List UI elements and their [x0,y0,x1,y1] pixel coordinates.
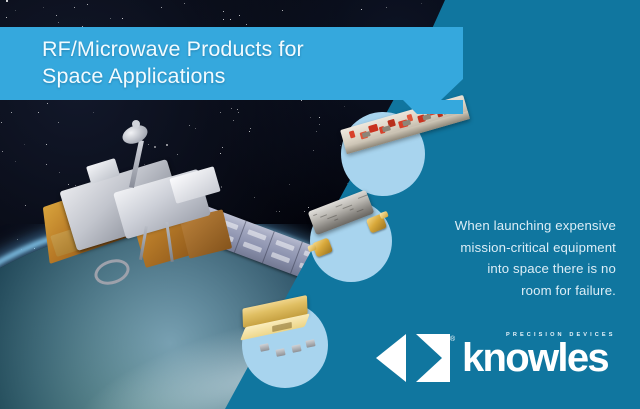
registered-trademark: ® [450,336,455,343]
smt-pad-4 [305,339,315,348]
body-copy: When launching expensive mission-critica… [382,215,616,301]
body-copy-line-4: room for failure. [382,280,616,302]
knowles-logo[interactable]: ® PRECISION DEVICES knowles [366,330,618,384]
smt-pad-2 [275,348,285,357]
page-title: RF/Microwave Products for Space Applicat… [42,36,304,90]
antenna-subreflector [132,120,140,128]
product-callout-filter-pcb[interactable] [341,112,425,196]
body-copy-line-1: When launching expensive [382,215,616,237]
promotional-banner: RF/Microwave Products for Space Applicat… [0,0,640,409]
satellite-instrument-box [169,166,220,204]
body-copy-line-3: into space there is no [382,258,616,280]
headline-band: RF/Microwave Products for Space Applicat… [0,27,463,100]
body-copy-line-2: mission-critical equipment [382,237,616,259]
satellite-sensor-ring [91,255,133,289]
double-chevron-left-icon [366,334,458,382]
product-callout-smt-component[interactable] [242,302,328,388]
logo-wordmark: knowles [462,336,608,380]
product-callout-filter-module[interactable] [310,200,392,282]
smt-pad-1 [259,343,269,352]
smt-pad-3 [291,344,301,353]
